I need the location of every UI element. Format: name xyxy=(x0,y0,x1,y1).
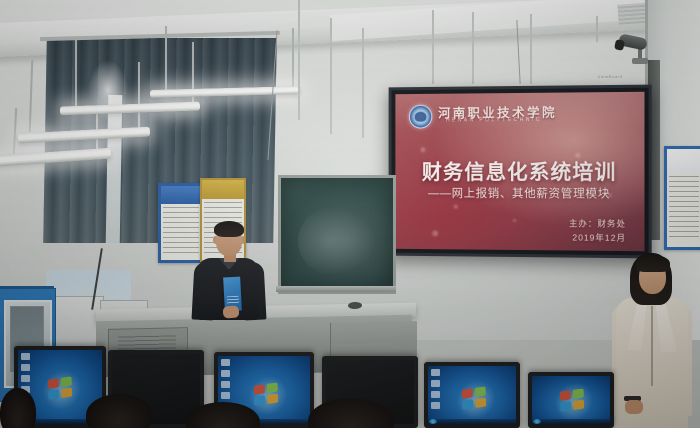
chalk-ledge xyxy=(276,286,396,292)
presenter-hair xyxy=(214,221,244,237)
poster-text-lines xyxy=(669,176,700,241)
slide-organization-name-en: HENAN POLYTECHNIC xyxy=(446,117,542,124)
light-stem xyxy=(292,28,294,90)
light-stem xyxy=(138,62,140,132)
slide-date-line: 2019年12月 xyxy=(572,231,626,244)
presenter-hand xyxy=(223,305,240,318)
classroom-photo: ViewBoard 河南职业技术学院 HENAN POLYTECHNIC 财务信… xyxy=(0,0,700,428)
student-head xyxy=(0,388,36,428)
light-stem xyxy=(165,26,167,90)
windows-taskbar[interactable] xyxy=(428,419,516,424)
slide-title: 财务信息化系统培训 xyxy=(395,155,644,185)
attendant-hair-front xyxy=(636,255,670,272)
desktop-icons[interactable] xyxy=(431,369,444,413)
light-stem xyxy=(75,40,77,106)
slide-bokeh xyxy=(421,147,426,152)
wall-conduit xyxy=(472,12,474,84)
chalk-smudge xyxy=(298,205,378,277)
presentation-display[interactable]: ViewBoard 河南职业技术学院 HENAN POLYTECHNIC 财务信… xyxy=(389,85,652,259)
poster-header-band xyxy=(202,180,244,199)
wall-poster-blue xyxy=(158,183,204,263)
camera-base xyxy=(632,58,648,64)
slide-bokeh xyxy=(454,205,458,209)
monitor-screen xyxy=(532,376,610,424)
windows-logo-icon xyxy=(560,388,587,414)
wall-conduit xyxy=(330,18,332,134)
booklet-text-lines xyxy=(227,296,239,305)
slide-bokeh xyxy=(432,230,438,236)
display-brand-label: ViewBoard xyxy=(597,74,622,79)
monitor-screen xyxy=(428,366,516,424)
student-head xyxy=(86,394,152,428)
student-monitor[interactable] xyxy=(528,372,614,428)
wall-conduit xyxy=(432,10,434,84)
windows-logo-icon xyxy=(48,376,75,402)
university-emblem-icon xyxy=(409,105,432,129)
poster-header-band xyxy=(667,149,700,173)
attendant-hand xyxy=(625,400,643,414)
student-monitor[interactable] xyxy=(424,362,520,428)
slide-surface: 河南职业技术学院 HENAN POLYTECHNIC 财务信息化系统培训 ——网… xyxy=(395,92,644,251)
slide-bokeh xyxy=(513,219,516,222)
windows-logo-icon xyxy=(462,386,489,412)
poster-text-lines xyxy=(163,207,199,256)
wall-conduit xyxy=(362,28,364,138)
windows-logo-icon xyxy=(254,382,281,408)
slide-subtitle: ——网上报销、其他薪资管理模块 xyxy=(395,185,644,202)
wall-poster-right xyxy=(664,146,700,250)
wall-conduit xyxy=(530,14,532,84)
attendant-jacket-zipper xyxy=(651,306,653,386)
poster-header-band xyxy=(161,186,201,204)
windows-taskbar[interactable] xyxy=(532,419,610,424)
slide-host-line: 主办：财务处 xyxy=(569,217,626,229)
wall-conduit xyxy=(298,0,300,120)
wall-conduit xyxy=(596,16,598,42)
